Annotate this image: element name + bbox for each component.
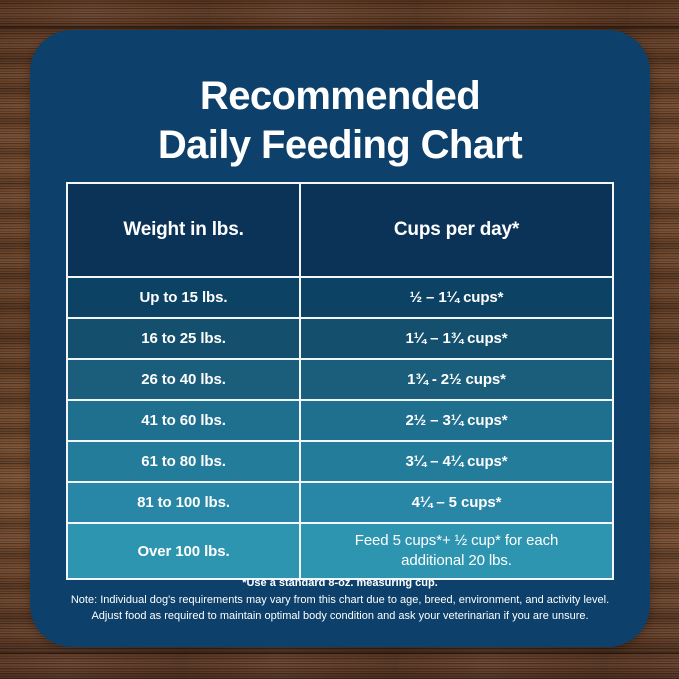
cell-cups: Feed 5 cups*+ ½ cup* for each additional… — [301, 524, 612, 578]
wood-plank-seam — [0, 26, 679, 28]
page-title-line-2: Daily Feeding Chart — [30, 121, 650, 170]
table-row: Up to 15 lbs. ½ – 1¼ cups* — [68, 276, 612, 317]
cell-weight: 26 to 40 lbs. — [68, 360, 301, 399]
cell-weight: 81 to 100 lbs. — [68, 483, 301, 522]
footnotes: *Use a standard 8-oz. measuring cup. Not… — [46, 575, 634, 625]
cell-cups: 1¼ – 1¾ cups* — [301, 319, 612, 358]
cell-cups: ½ – 1¼ cups* — [301, 278, 612, 317]
table-row: 81 to 100 lbs. 4¼ – 5 cups* — [68, 481, 612, 522]
table-row: 16 to 25 lbs. 1¼ – 1¾ cups* — [68, 317, 612, 358]
cell-cups: 1¾ - 2½ cups* — [301, 360, 612, 399]
footnote-adjust: Adjust food as required to maintain opti… — [46, 608, 634, 625]
cell-weight: 16 to 25 lbs. — [68, 319, 301, 358]
cell-cups: 4¼ – 5 cups* — [301, 483, 612, 522]
table-row: 41 to 60 lbs. 2½ – 3¼ cups* — [68, 399, 612, 440]
cell-cups: 2½ – 3¼ cups* — [301, 401, 612, 440]
page-title-line-1: Recommended — [30, 72, 650, 121]
footnote-measuring-cup: *Use a standard 8-oz. measuring cup. — [46, 575, 634, 592]
table-header-row: Weight in lbs. Cups per day* — [68, 184, 612, 276]
feeding-chart-card: Recommended Daily Feeding Chart Weight i… — [30, 30, 650, 647]
page-title: Recommended Daily Feeding Chart — [30, 72, 650, 170]
cell-weight: Up to 15 lbs. — [68, 278, 301, 317]
table-row: 26 to 40 lbs. 1¾ - 2½ cups* — [68, 358, 612, 399]
table-row: 61 to 80 lbs. 3¼ – 4¼ cups* — [68, 440, 612, 481]
cell-weight: 41 to 60 lbs. — [68, 401, 301, 440]
column-header-cups: Cups per day* — [301, 184, 612, 276]
footnote-note: Note: Individual dog's requirements may … — [46, 592, 634, 609]
cell-cups-line-2: additional 20 lbs. — [355, 551, 558, 571]
cell-cups-line-1: Feed 5 cups*+ ½ cup* for each — [355, 531, 558, 551]
table-row: Over 100 lbs. Feed 5 cups*+ ½ cup* for e… — [68, 522, 612, 578]
cell-cups: 3¼ – 4¼ cups* — [301, 442, 612, 481]
cell-weight: Over 100 lbs. — [68, 524, 301, 578]
feeding-table: Weight in lbs. Cups per day* Up to 15 lb… — [66, 182, 614, 580]
column-header-weight: Weight in lbs. — [68, 184, 301, 276]
cell-weight: 61 to 80 lbs. — [68, 442, 301, 481]
wood-plank-seam — [0, 652, 679, 654]
